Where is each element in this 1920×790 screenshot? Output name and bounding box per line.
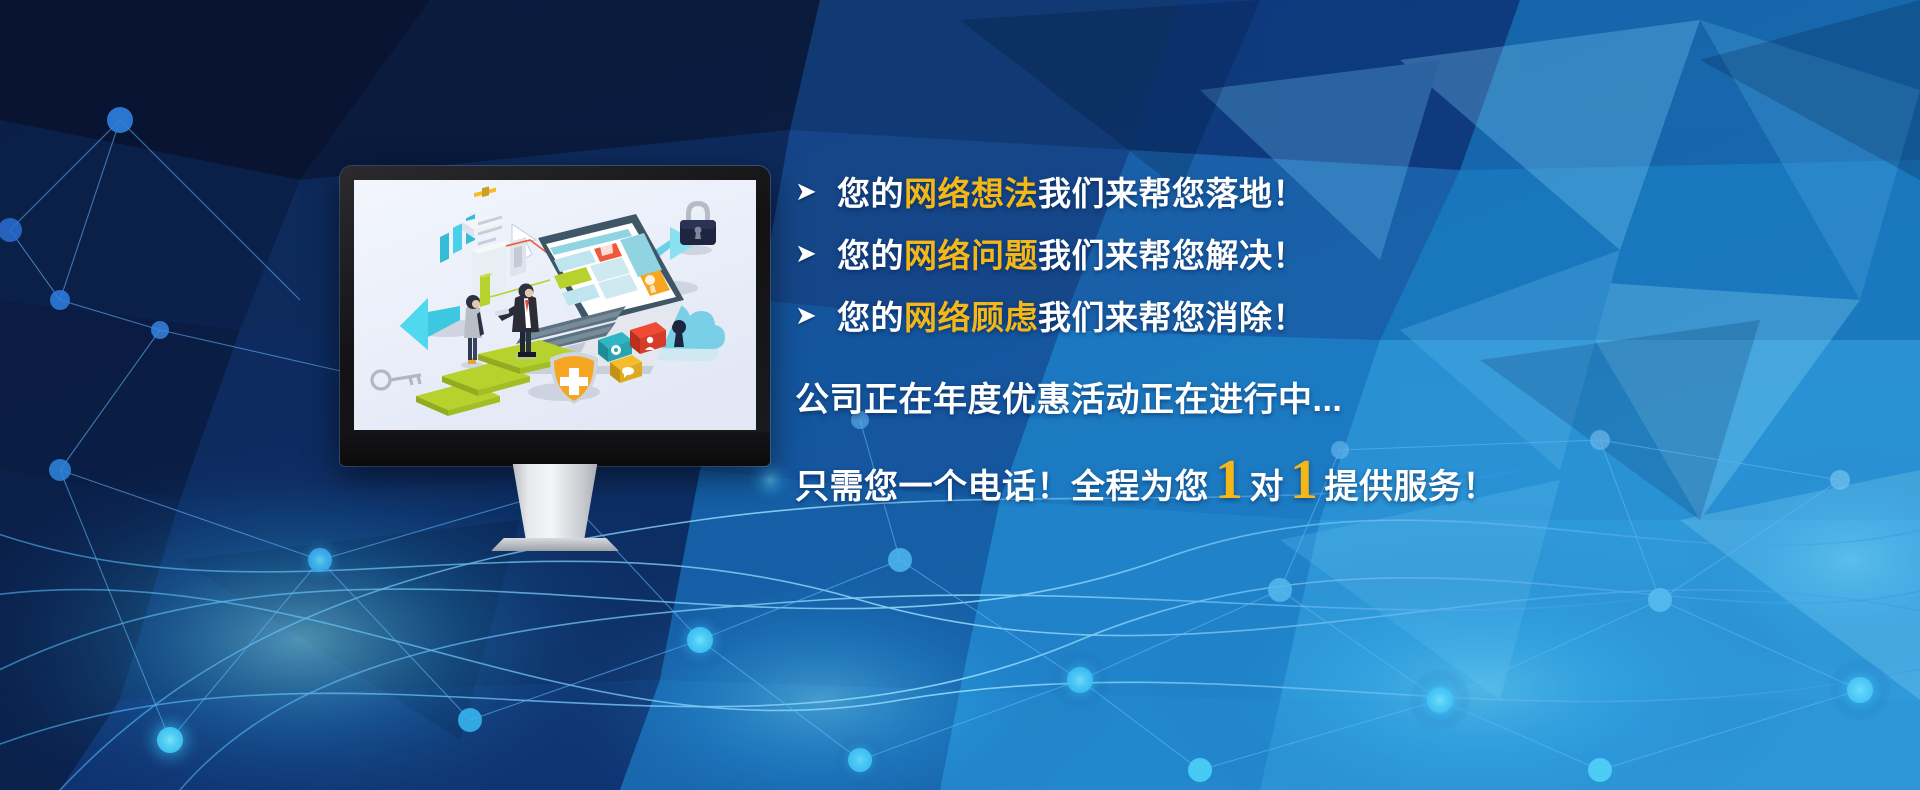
bullet-text-1: 您的网络想法我们来帮您落地！ [837, 167, 1306, 215]
monitor-screen [354, 180, 756, 430]
bullet-1-highlight: 网络想法 [904, 175, 1038, 212]
bullet-row-2: ➤ 您的网络问题我们来帮您解决！ [795, 222, 1795, 284]
bullet-arrow-icon: ➤ [795, 240, 837, 266]
bullet-3-post: 我们来帮您消除！ [1038, 299, 1306, 336]
cta-line: 只需您一个电话！全程为您 1 对 1 提供服务！ [795, 455, 1795, 508]
bullet-2-post: 我们来帮您解决！ [1038, 237, 1306, 274]
bullet-3-highlight: 网络顾虑 [904, 299, 1038, 336]
bullet-text-2: 您的网络问题我们来帮您解决！ [837, 229, 1306, 277]
bullet-2-highlight: 网络问题 [904, 237, 1038, 274]
isometric-network-security-illustration [354, 180, 756, 430]
bullet-1-pre: 您的 [837, 175, 904, 212]
cta-segment-3: 提供服务！ [1325, 459, 1498, 508]
monitor-chin [340, 432, 770, 466]
cta-number-one-first: 1 [1209, 455, 1250, 505]
bullet-arrow-icon: ➤ [795, 302, 837, 328]
bullet-1-post: 我们来帮您落地！ [1038, 175, 1306, 212]
bullet-row-1: ➤ 您的网络想法我们来帮您落地！ [795, 160, 1795, 222]
bullet-text-3: 您的网络顾虑我们来帮您消除！ [837, 291, 1306, 339]
cta-number-one-second: 1 [1284, 455, 1325, 505]
monitor-stand-base [491, 538, 619, 551]
cta-segment-2: 对 [1250, 459, 1285, 508]
cta-segment-1: 只需您一个电话！全程为您 [795, 459, 1209, 508]
marketing-copy-block: ➤ 您的网络想法我们来帮您落地！ ➤ 您的网络问题我们来帮您解决！ ➤ 您的网络… [795, 160, 1795, 508]
bullet-2-pre: 您的 [837, 237, 904, 274]
hero-banner: ➤ 您的网络想法我们来帮您落地！ ➤ 您的网络问题我们来帮您解决！ ➤ 您的网络… [0, 0, 1920, 790]
bullet-3-pre: 您的 [837, 299, 904, 336]
apple-logo-icon [549, 441, 562, 456]
promo-line: 公司正在年度优惠活动正在进行中... [795, 372, 1795, 421]
bullet-row-3: ➤ 您的网络顾虑我们来帮您消除！ [795, 284, 1795, 346]
bullet-arrow-icon: ➤ [795, 178, 837, 204]
imac-monitor-figure [340, 166, 770, 466]
